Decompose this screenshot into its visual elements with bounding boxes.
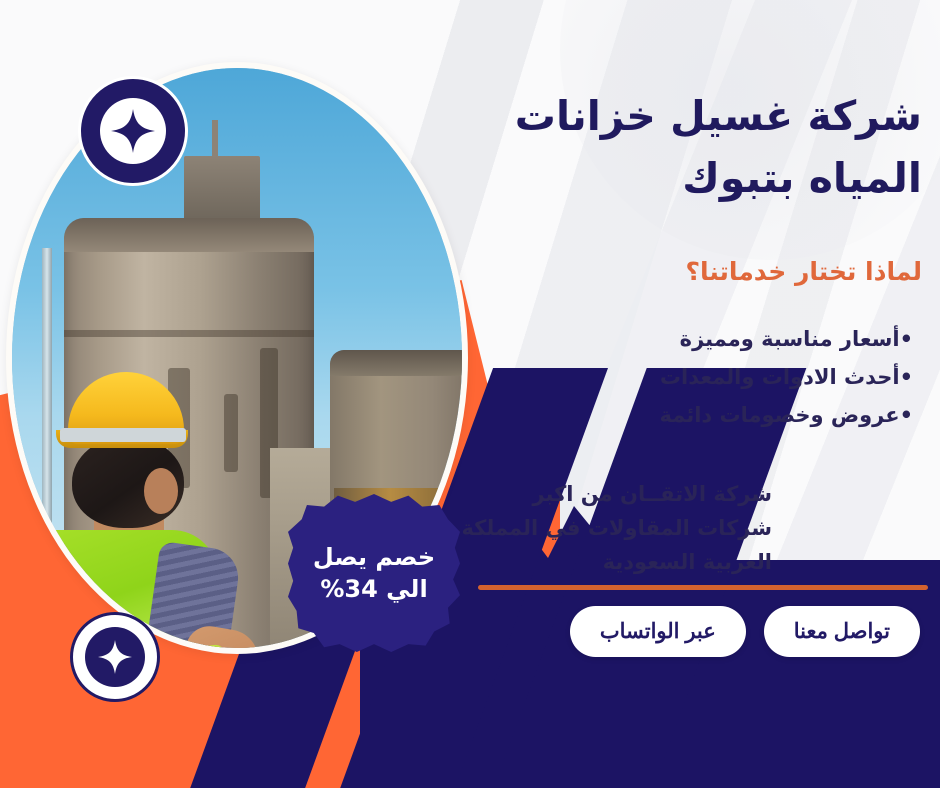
sparkle-star-icon bbox=[111, 109, 155, 153]
photo-worker-ear bbox=[144, 468, 178, 514]
whatsapp-button[interactable]: عبر الواتساب bbox=[570, 606, 746, 657]
discount-badge-line2: الي 34% bbox=[320, 573, 427, 605]
benefits-list: أسعار مناسبة ومميزة أحدث الادوات والمعدا… bbox=[452, 320, 922, 435]
sparkle-badge-bottom bbox=[70, 612, 160, 702]
photo-helmet-strap bbox=[60, 428, 186, 442]
photo-pipe bbox=[42, 248, 52, 578]
sparkle-star-icon bbox=[98, 640, 132, 674]
subheading: لماذا تختار خدماتنا؟ bbox=[452, 257, 922, 286]
sparkle-badge-top-inner bbox=[100, 98, 166, 164]
discount-badge-line1: خصم يصل bbox=[313, 541, 435, 573]
cta-button-row: تواصل معنا عبر الواتساب bbox=[570, 606, 920, 657]
sparkle-badge-top bbox=[78, 76, 188, 186]
content-column: شركة غسيل خزانات المياه بتبوك لماذا تختا… bbox=[452, 86, 922, 579]
photo-tank-streak bbox=[224, 394, 238, 472]
poster-canvas: خصم يصل الي 34% شركة غسيل خزانات المياه … bbox=[0, 0, 940, 788]
list-item: أسعار مناسبة ومميزة bbox=[452, 320, 922, 358]
sparkle-badge-bottom-inner bbox=[85, 627, 145, 687]
list-item: أحدث الادوات والمعدات bbox=[452, 358, 922, 396]
discount-badge: خصم يصل الي 34% bbox=[288, 494, 460, 652]
photo-ladder bbox=[184, 156, 260, 222]
list-item: عروض وخصومات دائمة bbox=[452, 396, 922, 434]
contact-us-button[interactable]: تواصل معنا bbox=[764, 606, 920, 657]
about-paragraph: شركة الاتقــان من اكبر شركات المقاولات ف… bbox=[452, 477, 772, 579]
orange-divider bbox=[478, 585, 928, 590]
page-title: شركة غسيل خزانات المياه بتبوك bbox=[452, 86, 922, 209]
